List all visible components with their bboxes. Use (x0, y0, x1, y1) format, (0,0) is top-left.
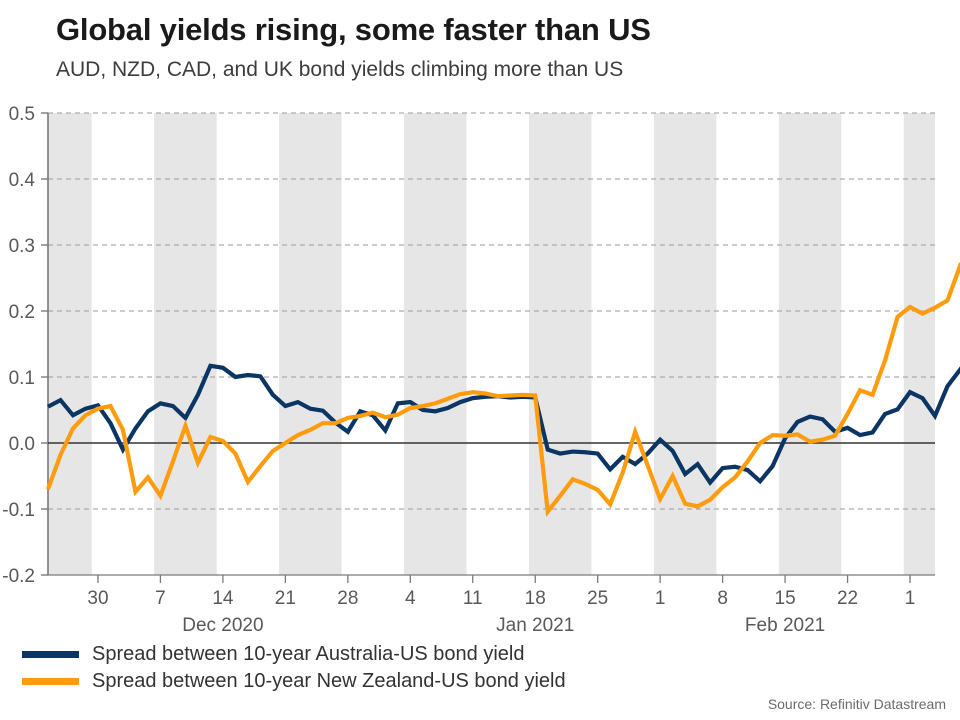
x-axis-tick-label: 30 (87, 588, 108, 609)
x-axis-period-label: Feb 2021 (745, 615, 825, 636)
y-axis-tick-label: -0.2 (2, 566, 35, 587)
shaded-band (404, 113, 466, 575)
x-axis-tick-label: 14 (212, 588, 234, 609)
x-axis-tick-label: 21 (275, 588, 296, 609)
plot-area: 0.50.40.30.20.10.0-0.1-0.2 3071421284111… (0, 0, 960, 640)
legend-swatch-new-zealand (22, 678, 79, 685)
legend-item-australia[interactable]: Spread between 10-year Australia-US bond… (22, 641, 722, 668)
y-axis-tick-label: 0.4 (9, 170, 36, 191)
x-axis-period-label: Jan 2021 (496, 615, 574, 636)
chart-legend: Spread between 10-year Australia-US bond… (22, 641, 722, 695)
y-axis-tick-label: -0.1 (2, 500, 35, 521)
x-axis-tick-label: 1 (655, 588, 666, 609)
x-axis-tick-label: 18 (525, 588, 546, 609)
y-axis-tick-label: 0.2 (9, 302, 35, 323)
x-axis-tick-label: 7 (155, 588, 166, 609)
source-attribution: Source: Refinitiv Datastream (768, 696, 946, 712)
x-axis-tick-label: 1 (905, 588, 916, 609)
legend-label-australia: Spread between 10-year Australia-US bond… (92, 643, 524, 666)
legend-swatch-australia (22, 651, 79, 658)
shaded-band (48, 113, 92, 575)
x-axis-tick-label: 11 (463, 588, 483, 609)
y-axis-tick-label: 0.0 (9, 434, 35, 455)
xgroup-labels-group: Dec 2020Jan 2021Feb 2021 (182, 615, 825, 636)
legend-label-new-zealand: Spread between 10-year New Zealand-US bo… (92, 670, 566, 693)
shaded-band (529, 113, 591, 575)
xtick-labels-group: 30714212841118251815221 (87, 588, 915, 609)
x-axis-tick-label: 15 (775, 588, 796, 609)
y-axis-tick-label: 0.1 (9, 368, 35, 389)
x-axis-tick-label: 22 (837, 588, 858, 609)
y-axis-tick-label: 0.3 (9, 236, 35, 257)
shaded-band (154, 113, 216, 575)
x-axis-tick-label: 25 (587, 588, 608, 609)
shaded-band (779, 113, 841, 575)
legend-item-new-zealand[interactable]: Spread between 10-year New Zealand-US bo… (22, 668, 722, 695)
x-axis-period-label: Dec 2020 (182, 615, 263, 636)
ytick-labels-group: 0.50.40.30.20.10.0-0.1-0.2 (2, 104, 35, 587)
shaded-band (279, 113, 341, 575)
x-axis-tick-label: 28 (337, 588, 358, 609)
shaded-band (904, 113, 935, 575)
band-shading-group (48, 113, 935, 575)
x-axis-tick-label: 8 (717, 588, 728, 609)
x-axis-tick-label: 4 (405, 588, 416, 609)
y-axis-tick-label: 0.5 (9, 104, 35, 125)
chart-container: Global yields rising, some faster than U… (0, 0, 960, 720)
